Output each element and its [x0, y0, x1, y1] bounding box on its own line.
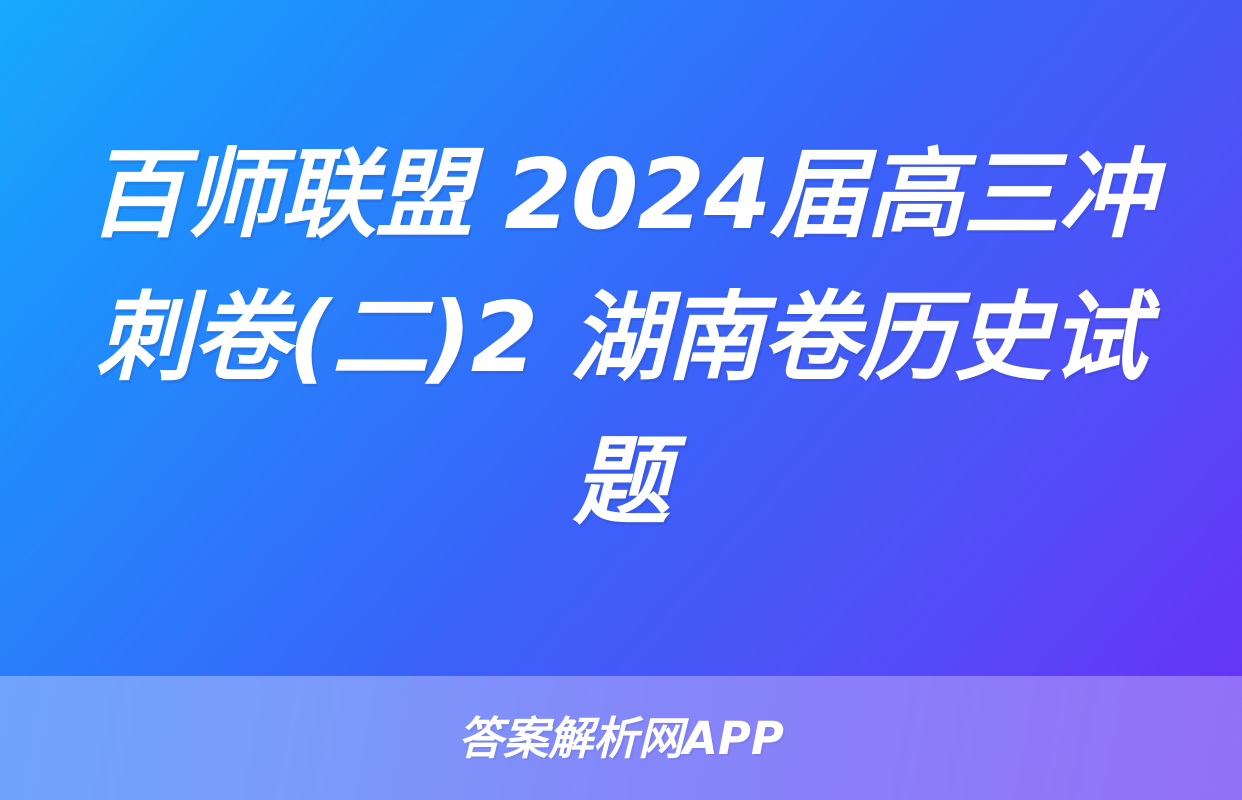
page-title: 百师联盟 2024届高三冲刺卷(二)2 湖南卷历史试题 [76, 123, 1166, 554]
app-watermark-label: 答案解析网APP [458, 716, 784, 761]
title-block: 百师联盟 2024届高三冲刺卷(二)2 湖南卷历史试题 [0, 0, 1242, 676]
poster-card: 百师联盟 2024届高三冲刺卷(二)2 湖南卷历史试题 答案解析网APP [0, 0, 1242, 800]
watermark-banner: 答案解析网APP [0, 676, 1242, 800]
